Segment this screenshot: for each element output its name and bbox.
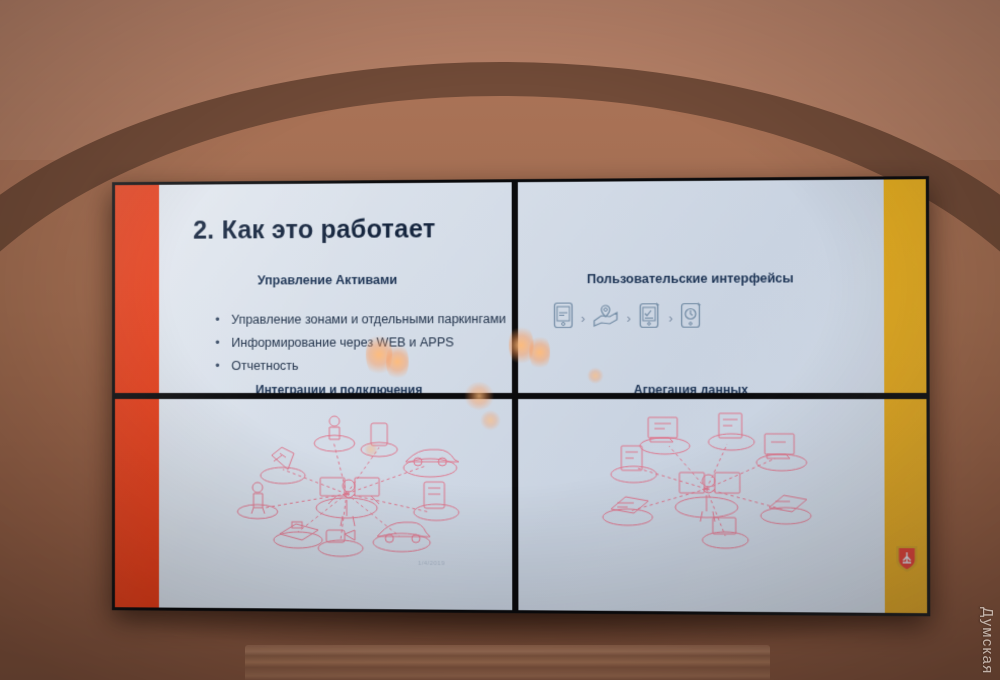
phone-checklist-icon [638, 301, 661, 334]
isometric-network-integrations [227, 411, 481, 573]
bullet-item: Отчетность [213, 358, 506, 373]
slide-surface: 2. Как это работает Интеграции и подключ… [518, 399, 927, 613]
flow-separator-icon: › [668, 310, 673, 325]
panel-screen-bottom-right: 2. Как это работает Интеграции и подключ… [518, 399, 927, 613]
slide-accent-bar-left [115, 399, 159, 610]
bullet-item: Управление зонами и отдельными паркингам… [213, 312, 506, 328]
flow-separator-icon: › [581, 310, 586, 325]
slide-title: 2. Как это работает [193, 215, 435, 246]
panel-screen-top-right: 2. Как это работает Управление Активами … [518, 179, 927, 393]
display-panel-top-left[interactable]: 2. Как это работает Управление Активами … [112, 179, 515, 396]
source-watermark: Думская [979, 607, 996, 674]
slide-datestamp: 1/4/2019 [418, 561, 445, 567]
panel-screen-top-left: 2. Как это работает Управление Активами … [115, 182, 512, 393]
heading-asset-management: Управление Активами [258, 273, 398, 288]
phone-app-icon [553, 302, 574, 335]
display-panel-bottom-left[interactable]: 2. Как это работает Управление Активами … [112, 396, 515, 613]
wall-molding [245, 645, 770, 680]
flow-separator-icon: › [627, 310, 632, 325]
user-interface-flow: › › › [553, 301, 703, 334]
slide-accent-bar-right [884, 399, 927, 613]
slide-surface: 2. Как это работает Управление Активами … [115, 182, 512, 393]
isometric-network-data-aggregation [592, 409, 830, 563]
slide-surface: 2. Как это работает Управление Активами … [115, 399, 512, 610]
bullet-item: Информирование через WEB и APPS [213, 335, 506, 351]
display-panel-bottom-right[interactable]: 2. Как это работает Интеграции и подключ… [515, 396, 930, 616]
display-panel-top-right[interactable]: 2. Как это работает Управление Активами … [515, 176, 930, 396]
panel-screen-bottom-left: 2. Как это работает Управление Активами … [115, 399, 512, 610]
heading-data-aggregation: Агрегация данных [634, 383, 749, 393]
map-pin-icon [592, 301, 619, 334]
phone-timer-icon [680, 301, 703, 334]
video-wall[interactable]: 2. Как это работает Управление Активами … [112, 176, 930, 616]
heading-user-interfaces: Пользовательские интерфейсы [587, 271, 794, 286]
slide-accent-bar-left [115, 185, 159, 393]
slide-accent-bar-right [884, 179, 927, 393]
asset-management-bullets: Управление зонами и отдельными паркингам… [213, 312, 506, 382]
slide-surface: 2. Как это работает Управление Активами … [518, 179, 927, 393]
odessa-coat-of-arms-icon [894, 544, 919, 574]
heading-integrations: Интеграции и подключения [256, 383, 423, 393]
